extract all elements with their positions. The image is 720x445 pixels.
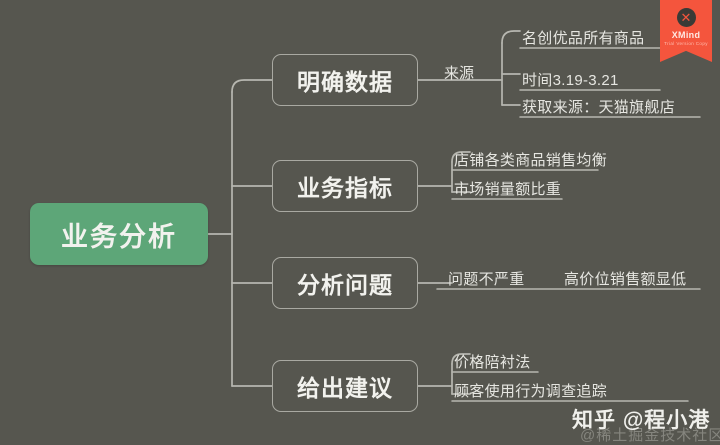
xmind-x-icon: ✕ [677, 8, 696, 27]
leaf-node-2-1[interactable]: 店铺各类商品销售均衡 [454, 149, 607, 170]
branch-node-1-label: 明确数据 [297, 63, 393, 97]
edge-label-source[interactable]: 来源 [444, 62, 474, 83]
branch-node-3[interactable]: 分析问题 [272, 257, 418, 309]
leaf-node-3-1[interactable]: 问题不严重 [448, 268, 525, 289]
branch-node-4-label: 给出建议 [297, 369, 393, 403]
leaf-node-3-2[interactable]: 高价位销售额显低 [564, 268, 686, 289]
leaf-node-4-1[interactable]: 价格陪衬法 [454, 351, 531, 372]
watermark-zhihu: 知乎 @程小港 [572, 404, 710, 434]
root-node[interactable]: 业务分析 [30, 203, 208, 265]
branch-node-1[interactable]: 明确数据 [272, 54, 418, 106]
leaf-node-1-1[interactable]: 名创优品所有商品 [522, 27, 644, 48]
root-node-label: 业务分析 [61, 215, 177, 254]
xmind-badge-tagline: Trial Version Copy [664, 41, 708, 46]
branch-node-3-label: 分析问题 [297, 266, 393, 300]
branch-node-2[interactable]: 业务指标 [272, 160, 418, 212]
leaf-node-2-2[interactable]: 市场销量额比重 [454, 178, 561, 199]
mindmap-canvas: 业务分析 明确数据 业务指标 分析问题 给出建议 来源 名创优品所有商品 时间3… [0, 0, 720, 444]
xmind-badge-name: XMind [672, 30, 701, 40]
branch-node-4[interactable]: 给出建议 [272, 360, 418, 412]
leaf-node-4-2[interactable]: 顾客使用行为调查追踪 [454, 380, 607, 401]
leaf-node-1-2[interactable]: 时间3.19-3.21 [522, 69, 619, 90]
leaf-node-1-3[interactable]: 获取来源：天猫旗舰店 [522, 96, 675, 117]
branch-node-2-label: 业务指标 [297, 169, 393, 203]
